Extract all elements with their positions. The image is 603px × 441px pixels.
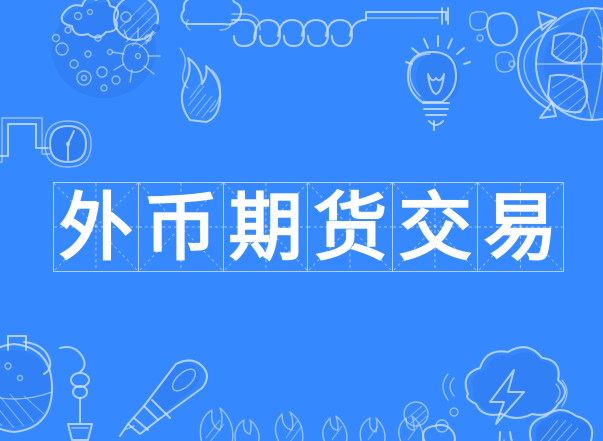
cell-cluster-doodle <box>38 0 168 109</box>
flame-row-doodle <box>196 382 446 441</box>
character-cell: 币 <box>139 183 224 271</box>
bubble-cluster-doodle <box>398 400 488 441</box>
character-cell: 货 <box>308 183 393 271</box>
cloud-scribble-doodle <box>176 0 246 36</box>
lightbulb-doodle <box>398 30 476 140</box>
tree-doodle <box>524 404 603 441</box>
title-character: 易 <box>484 191 558 265</box>
title-character: 货 <box>313 191 387 265</box>
flask-doodle <box>0 330 88 441</box>
character-cell: 交 <box>393 183 478 271</box>
blob-pair-doodle <box>466 8 526 90</box>
title-character: 交 <box>398 191 472 265</box>
character-cell: 期 <box>224 183 309 271</box>
globe-doodle <box>540 2 603 130</box>
clock-gauge-doodle <box>40 116 96 172</box>
character-cell: 外 <box>54 183 139 271</box>
refresh-arrow-doodle <box>508 6 568 122</box>
title-character-grid: 外 币 期 <box>53 182 564 272</box>
title-character: 外 <box>59 191 133 265</box>
character-cell: 易 <box>478 183 563 271</box>
title-character: 期 <box>229 191 303 265</box>
fountain-pen-doodle <box>118 358 224 438</box>
wire-path-doodle <box>0 108 132 178</box>
banner-canvas: 外 币 期 <box>0 0 603 441</box>
coil-spring-doodle <box>232 8 462 56</box>
flame-doodle <box>160 36 250 126</box>
title-character: 币 <box>144 191 218 265</box>
cloud-lightning-doodle <box>440 348 570 441</box>
dropper-doodle <box>58 344 118 441</box>
